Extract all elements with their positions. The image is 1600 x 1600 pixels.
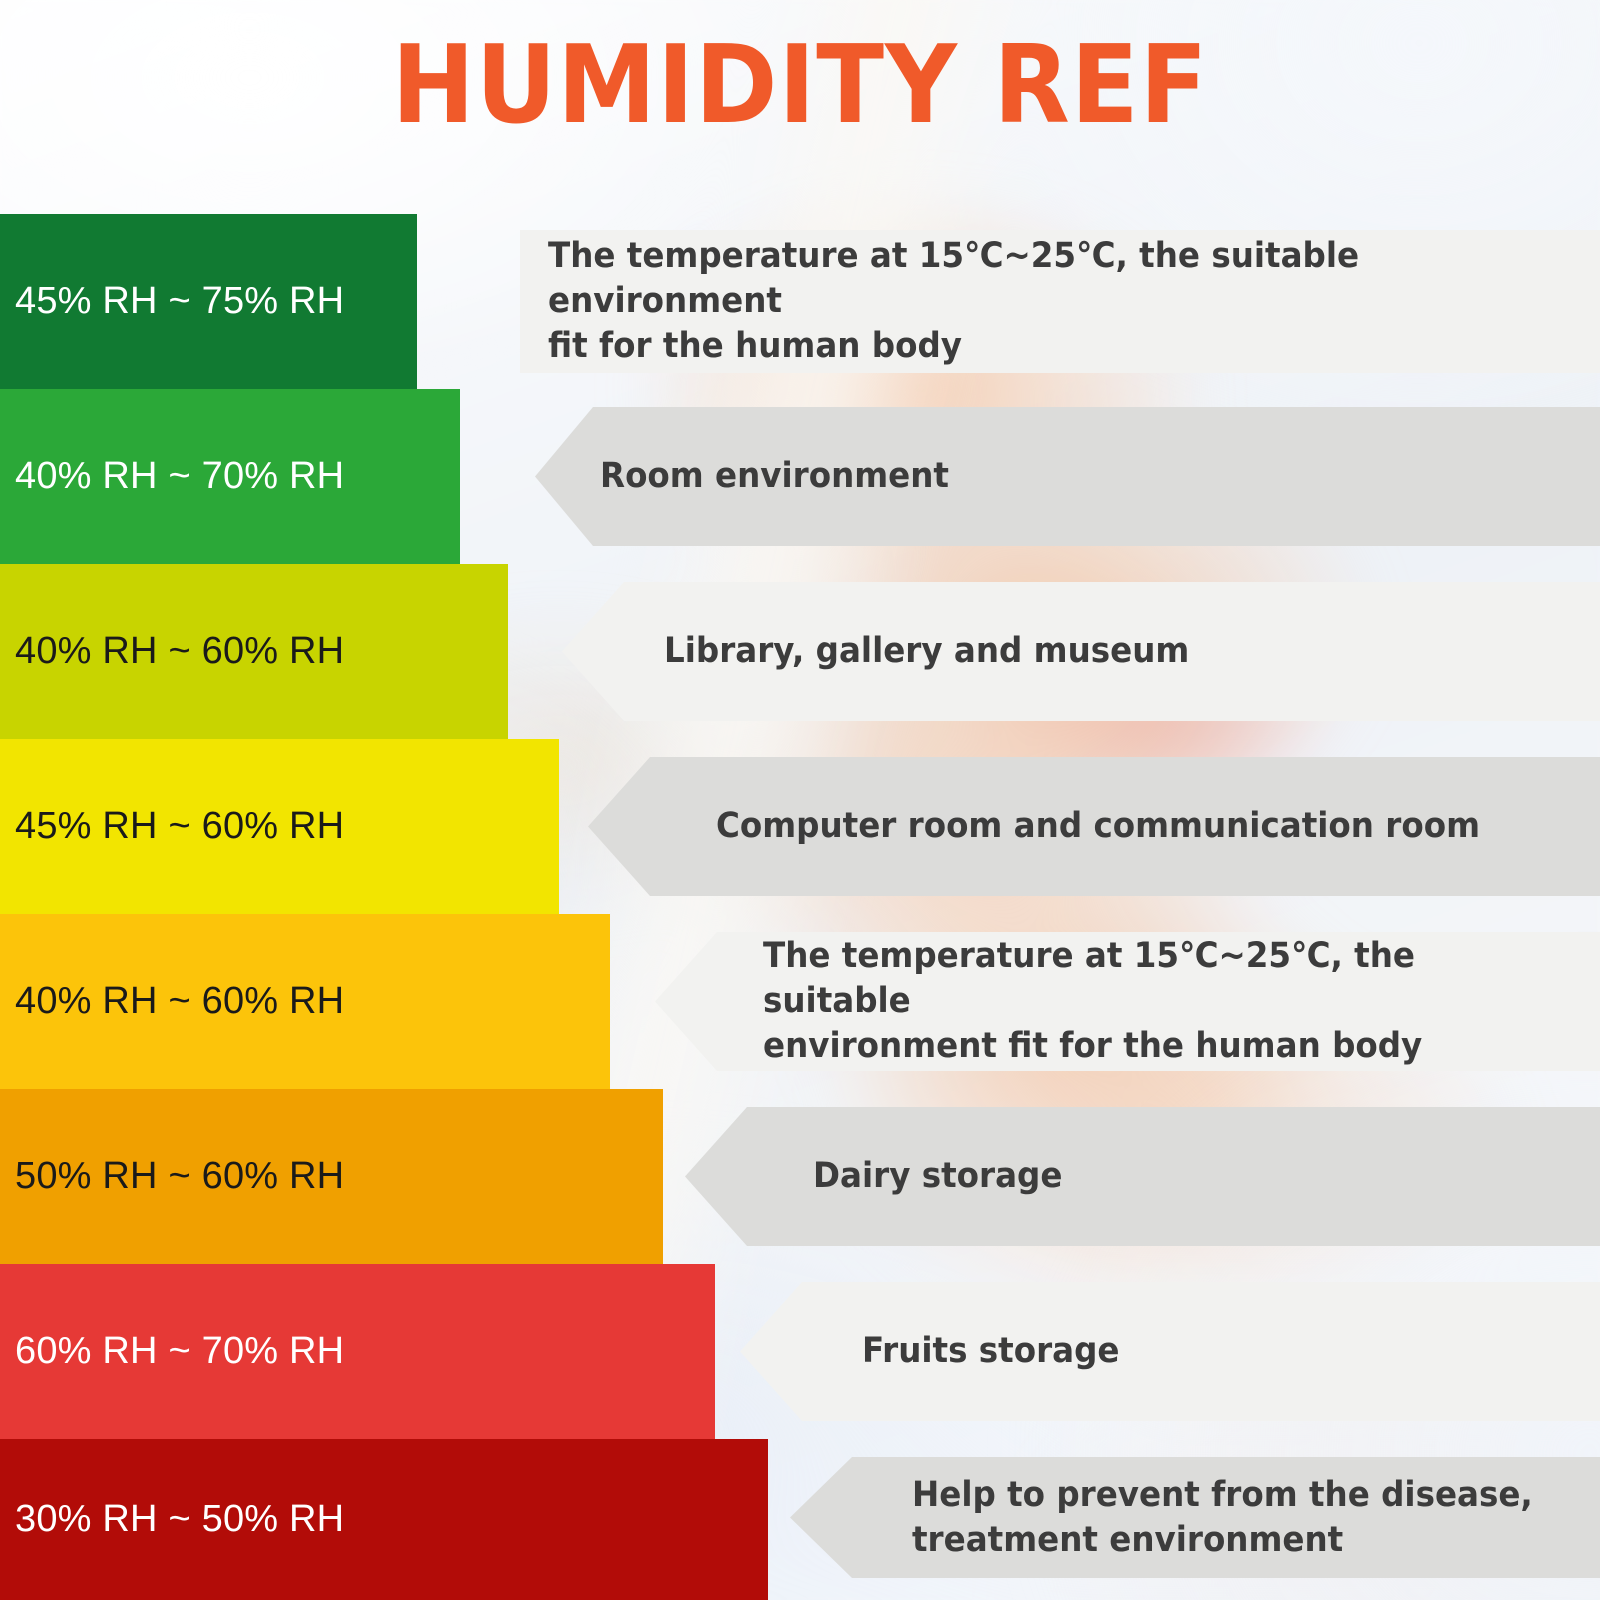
humidity-range-label: 45% RH ~ 75% RH xyxy=(0,280,344,323)
humidity-range-label: 40% RH ~ 60% RH xyxy=(0,630,344,673)
humidity-range-bar[interactable]: 40% RH ~ 70% RH xyxy=(0,389,460,564)
humidity-row: 40% RH ~ 70% RHRoom environment xyxy=(0,389,1600,564)
humidity-range-label: 40% RH ~ 70% RH xyxy=(0,455,344,498)
humidity-range-label: 30% RH ~ 50% RH xyxy=(0,1498,344,1541)
description-panel[interactable]: Help to prevent from the disease, treatm… xyxy=(790,1457,1600,1578)
humidity-range-bar[interactable]: 60% RH ~ 70% RH xyxy=(0,1264,715,1439)
description-text: Dairy storage xyxy=(813,1154,1062,1199)
description-panel[interactable]: Fruits storage xyxy=(740,1282,1600,1421)
description-panel[interactable]: The temperature at 15℃~25℃, the suitable… xyxy=(520,230,1600,373)
humidity-range-bar[interactable]: 50% RH ~ 60% RH xyxy=(0,1089,663,1264)
description-panel[interactable]: Dairy storage xyxy=(685,1107,1600,1246)
description-text: The temperature at 15℃~25℃, the suitable… xyxy=(763,934,1541,1068)
humidity-range-label: 45% RH ~ 60% RH xyxy=(0,805,344,848)
humidity-row: 40% RH ~ 60% RHThe temperature at 15℃~25… xyxy=(0,914,1600,1089)
humidity-row: 45% RH ~ 60% RHComputer room and communi… xyxy=(0,739,1600,914)
humidity-range-bar[interactable]: 45% RH ~ 75% RH xyxy=(0,214,417,389)
humidity-range-label: 60% RH ~ 70% RH xyxy=(0,1330,344,1373)
description-text: The temperature at 15℃~25℃, the suitable… xyxy=(548,234,1526,368)
humidity-row: 40% RH ~ 60% RHLibrary, gallery and muse… xyxy=(0,564,1600,739)
description-text: Fruits storage xyxy=(862,1329,1119,1374)
humidity-range-label: 50% RH ~ 60% RH xyxy=(0,1155,344,1198)
humidity-row: 45% RH ~ 75% RHThe temperature at 15℃~25… xyxy=(0,214,1600,389)
humidity-range-label: 40% RH ~ 60% RH xyxy=(0,980,344,1023)
humidity-range-bar[interactable]: 40% RH ~ 60% RH xyxy=(0,914,610,1089)
description-panel[interactable]: The temperature at 15℃~25℃, the suitable… xyxy=(655,932,1600,1071)
humidity-range-bar[interactable]: 40% RH ~ 60% RH xyxy=(0,564,508,739)
humidity-range-bar[interactable]: 30% RH ~ 50% RH xyxy=(0,1439,768,1600)
humidity-row: 50% RH ~ 60% RHDairy storage xyxy=(0,1089,1600,1264)
description-text: Help to prevent from the disease, treatm… xyxy=(912,1473,1533,1563)
description-panel[interactable]: Room environment xyxy=(535,407,1600,546)
description-text: Library, gallery and museum xyxy=(664,629,1189,674)
humidity-reference-rows: 45% RH ~ 75% RHThe temperature at 15℃~25… xyxy=(0,0,1600,1600)
humidity-row: 30% RH ~ 50% RHHelp to prevent from the … xyxy=(0,1439,1600,1600)
page-title: HUMIDITY REF xyxy=(64,32,1536,140)
description-panel[interactable]: Library, gallery and museum xyxy=(562,582,1600,721)
description-text: Computer room and communication room xyxy=(716,804,1480,849)
humidity-range-bar[interactable]: 45% RH ~ 60% RH xyxy=(0,739,559,914)
description-panel[interactable]: Computer room and communication room xyxy=(588,757,1600,896)
description-text: Room environment xyxy=(600,454,949,499)
humidity-row: 60% RH ~ 70% RHFruits storage xyxy=(0,1264,1600,1439)
